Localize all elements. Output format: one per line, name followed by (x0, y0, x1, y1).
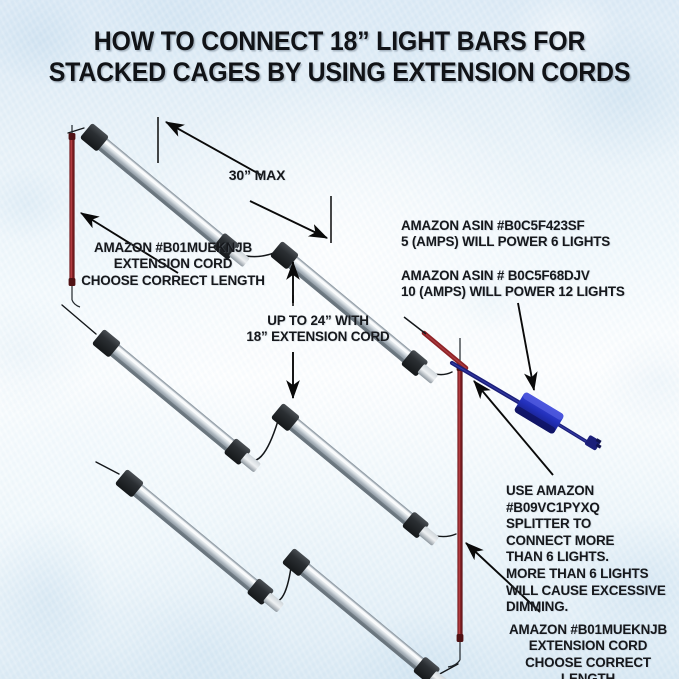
note-spacing: UP TO 24” WITH 18” EXTENSION CORD (228, 313, 408, 346)
leader-splitter-note (474, 381, 553, 475)
dimension-label-30max: 30” MAX (212, 167, 302, 183)
light-bar (282, 548, 453, 679)
page-title: HOW TO CONNECT 18” LIGHT BARS FOR STACKE… (20, 26, 658, 88)
light-bar (92, 329, 264, 476)
cord-navy-splitter (452, 363, 602, 451)
splitter-block (513, 391, 564, 434)
note-extension-cord-bottom: AMAZON #B01MUEKNJB EXTENSION CORD CHOOSE… (497, 622, 679, 679)
note-splitter: USE AMAZON #B09VC1PYXQ SPLITTER TO CONNE… (506, 483, 678, 616)
light-bars (80, 123, 453, 679)
note-asin-10amp: AMAZON ASIN # B0C5F68DJV 10 (AMPS) WILL … (401, 268, 673, 301)
leader-splitter (518, 303, 534, 390)
infographic-canvas: HOW TO CONNECT 18” LIGHT BARS FOR STACKE… (0, 0, 679, 679)
note-asin-5amp: AMAZON ASIN #B0C5F423SF 5 (AMPS) WILL PO… (401, 218, 671, 251)
light-bar (115, 469, 287, 616)
light-bar (271, 403, 442, 549)
dimension-arrow-right (250, 201, 327, 238)
splitter-plug-tip (584, 435, 601, 451)
note-extension-cord-left: AMAZON #B01MUEKNJB EXTENSION CORD CHOOSE… (78, 240, 268, 289)
